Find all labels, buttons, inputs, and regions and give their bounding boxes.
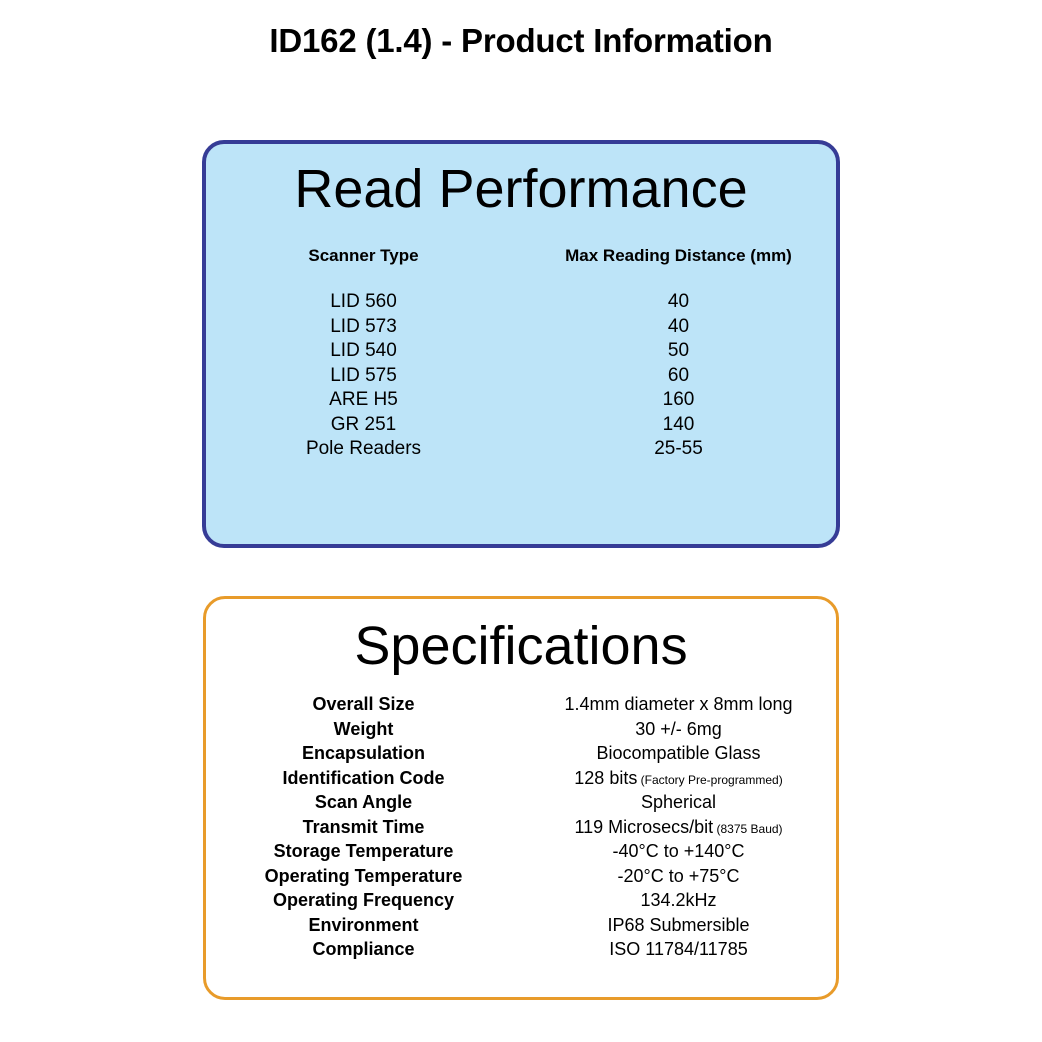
spec-label-cell: Overall Size — [206, 694, 521, 719]
spec-value-note: (Factory Pre-programmed) — [637, 773, 782, 787]
scanner-type-cell: LID 560 — [206, 291, 521, 316]
spec-value-text: Biocompatible Glass — [596, 743, 760, 763]
spec-value-cell: 30 +/- 6mg — [521, 719, 836, 744]
spec-value-cell: 134.2kHz — [521, 890, 836, 915]
spec-value-text: 30 +/- 6mg — [635, 719, 722, 739]
table-row: LID 57560 — [206, 365, 836, 390]
table-spacer-row — [206, 270, 836, 291]
spec-label-cell: Operating Temperature — [206, 866, 521, 891]
spec-value-text: ISO 11784/11785 — [609, 939, 747, 959]
table-row: ARE H5160 — [206, 389, 836, 414]
max-reading-distance-cell: 40 — [521, 316, 836, 341]
table-row: LID 56040 — [206, 291, 836, 316]
spec-value-note: (8375 Baud) — [713, 822, 782, 836]
max-reading-distance-cell: 25-55 — [521, 438, 836, 463]
table-row: EncapsulationBiocompatible Glass — [206, 743, 836, 768]
scanner-type-cell: LID 573 — [206, 316, 521, 341]
spec-value-cell: -40°C to +140°C — [521, 841, 836, 866]
spec-label-cell: Encapsulation — [206, 743, 521, 768]
spec-value-cell: ISO 11784/11785 — [521, 939, 836, 964]
read-performance-table: Scanner Type Max Reading Distance (mm) L… — [206, 246, 836, 463]
read-performance-card: Read Performance Scanner Type Max Readin… — [202, 140, 840, 548]
specifications-table-body: Overall Size1.4mm diameter x 8mm longWei… — [206, 694, 836, 964]
max-reading-distance-cell: 160 — [521, 389, 836, 414]
max-reading-distance-cell: 60 — [521, 365, 836, 390]
spec-value-cell: -20°C to +75°C — [521, 866, 836, 891]
spec-label-cell: Scan Angle — [206, 792, 521, 817]
read-performance-table-head: Scanner Type Max Reading Distance (mm) — [206, 246, 836, 270]
spec-label-cell: Operating Frequency — [206, 890, 521, 915]
spec-value-cell: 1.4mm diameter x 8mm long — [521, 694, 836, 719]
table-row: ComplianceISO 11784/11785 — [206, 939, 836, 964]
column-header-max-reading-distance: Max Reading Distance (mm) — [521, 246, 836, 270]
table-row: Identification Code128 bits (Factory Pre… — [206, 768, 836, 793]
table-row: Overall Size1.4mm diameter x 8mm long — [206, 694, 836, 719]
table-row: EnvironmentIP68 Submersible — [206, 915, 836, 940]
spec-value-text: 134.2kHz — [640, 890, 716, 910]
read-performance-table-body: LID 56040LID 57340LID 54050LID 57560ARE … — [206, 270, 836, 463]
scanner-type-cell: LID 575 — [206, 365, 521, 390]
table-row: LID 57340 — [206, 316, 836, 341]
read-performance-heading: Read Performance — [206, 162, 836, 216]
spec-value-text: -20°C to +75°C — [618, 866, 740, 886]
specifications-table: Overall Size1.4mm diameter x 8mm longWei… — [206, 694, 836, 964]
table-header-row: Scanner Type Max Reading Distance (mm) — [206, 246, 836, 270]
table-row: Storage Temperature-40°C to +140°C — [206, 841, 836, 866]
table-row: Transmit Time119 Microsecs/bit (8375 Bau… — [206, 817, 836, 842]
spec-value-cell: IP68 Submersible — [521, 915, 836, 940]
spec-value-text: 1.4mm diameter x 8mm long — [564, 694, 792, 714]
spec-value-cell: Spherical — [521, 792, 836, 817]
page-title: ID162 (1.4) - Product Information — [0, 22, 1042, 60]
max-reading-distance-cell: 50 — [521, 340, 836, 365]
specifications-card: Specifications Overall Size1.4mm diamete… — [203, 596, 839, 1000]
spec-label-cell: Weight — [206, 719, 521, 744]
table-row: Pole Readers25-55 — [206, 438, 836, 463]
table-row: Operating Temperature-20°C to +75°C — [206, 866, 836, 891]
spec-value-text: IP68 Submersible — [607, 915, 749, 935]
scanner-type-cell: GR 251 — [206, 414, 521, 439]
spec-value-cell: 119 Microsecs/bit (8375 Baud) — [521, 817, 836, 842]
scanner-type-cell: LID 540 — [206, 340, 521, 365]
spec-value-cell: 128 bits (Factory Pre-programmed) — [521, 768, 836, 793]
specifications-heading: Specifications — [206, 619, 836, 673]
max-reading-distance-cell: 40 — [521, 291, 836, 316]
column-header-scanner-type: Scanner Type — [206, 246, 521, 270]
spec-value-text: 119 Microsecs/bit — [574, 817, 713, 837]
spec-label-cell: Compliance — [206, 939, 521, 964]
spec-label-cell: Environment — [206, 915, 521, 940]
scanner-type-cell: Pole Readers — [206, 438, 521, 463]
spec-label-cell: Identification Code — [206, 768, 521, 793]
table-row: GR 251140 — [206, 414, 836, 439]
max-reading-distance-cell: 140 — [521, 414, 836, 439]
spec-value-text: 128 bits — [574, 768, 637, 788]
spec-label-cell: Storage Temperature — [206, 841, 521, 866]
spec-value-text: -40°C to +140°C — [613, 841, 745, 861]
table-row: Operating Frequency134.2kHz — [206, 890, 836, 915]
spec-label-cell: Transmit Time — [206, 817, 521, 842]
scanner-type-cell: ARE H5 — [206, 389, 521, 414]
spec-value-cell: Biocompatible Glass — [521, 743, 836, 768]
spec-value-text: Spherical — [641, 792, 716, 812]
table-row: Weight30 +/- 6mg — [206, 719, 836, 744]
table-row: Scan AngleSpherical — [206, 792, 836, 817]
table-row: LID 54050 — [206, 340, 836, 365]
